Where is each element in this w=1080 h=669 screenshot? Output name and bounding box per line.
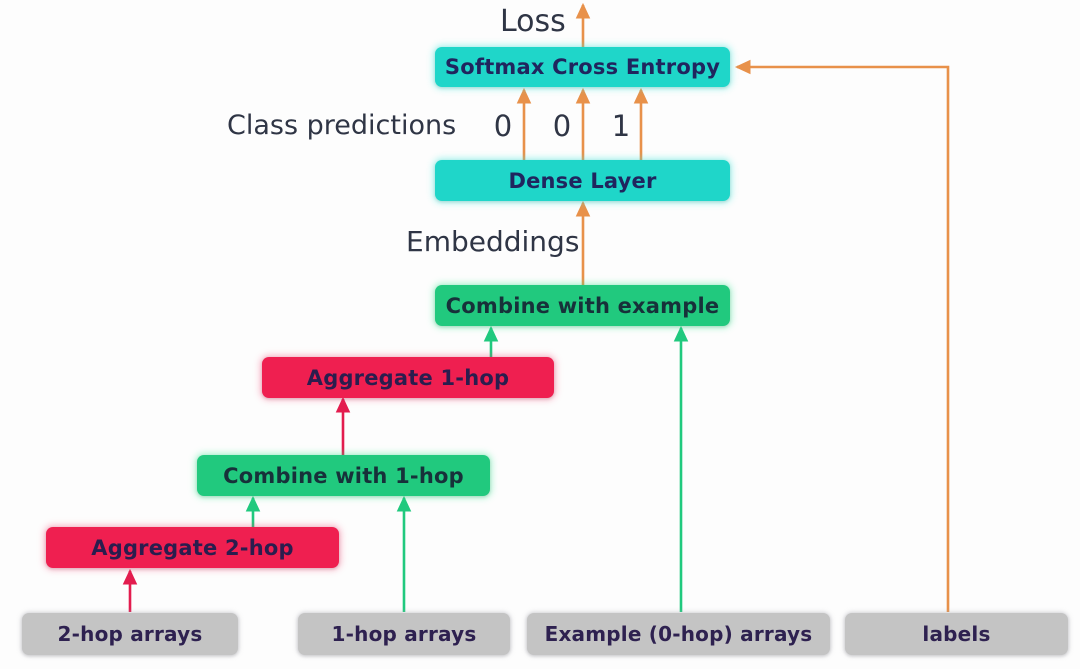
node-aggregate-2-hop[interactable]: Aggregate 2-hop xyxy=(46,527,339,568)
diagram-canvas: Loss Class predictions 0 0 1 Embeddings … xyxy=(0,0,1080,669)
loss-label: Loss xyxy=(500,4,566,39)
class-predictions-label: Class predictions xyxy=(227,110,456,141)
node-2-hop-arrays[interactable]: 2-hop arrays xyxy=(22,613,238,655)
class-prediction-value-0: 0 xyxy=(488,109,518,143)
class-prediction-value-2: 1 xyxy=(606,109,636,143)
node-softmax-cross-entropy[interactable]: Softmax Cross Entropy xyxy=(435,47,730,87)
node-combine-with-1-hop[interactable]: Combine with 1-hop xyxy=(197,455,490,496)
class-prediction-value-1: 0 xyxy=(547,109,577,143)
node-labels[interactable]: labels xyxy=(845,613,1068,655)
node-example-0-hop-arrays[interactable]: Example (0-hop) arrays xyxy=(527,613,830,655)
embeddings-label: Embeddings xyxy=(406,225,579,258)
node-1-hop-arrays[interactable]: 1-hop arrays xyxy=(298,613,510,655)
arrow-labels-to-softmax xyxy=(737,67,948,612)
node-aggregate-1-hop[interactable]: Aggregate 1-hop xyxy=(262,357,554,398)
node-dense-layer[interactable]: Dense Layer xyxy=(435,160,730,201)
node-combine-with-example[interactable]: Combine with example xyxy=(435,285,730,326)
arrow-layer xyxy=(0,0,1080,669)
